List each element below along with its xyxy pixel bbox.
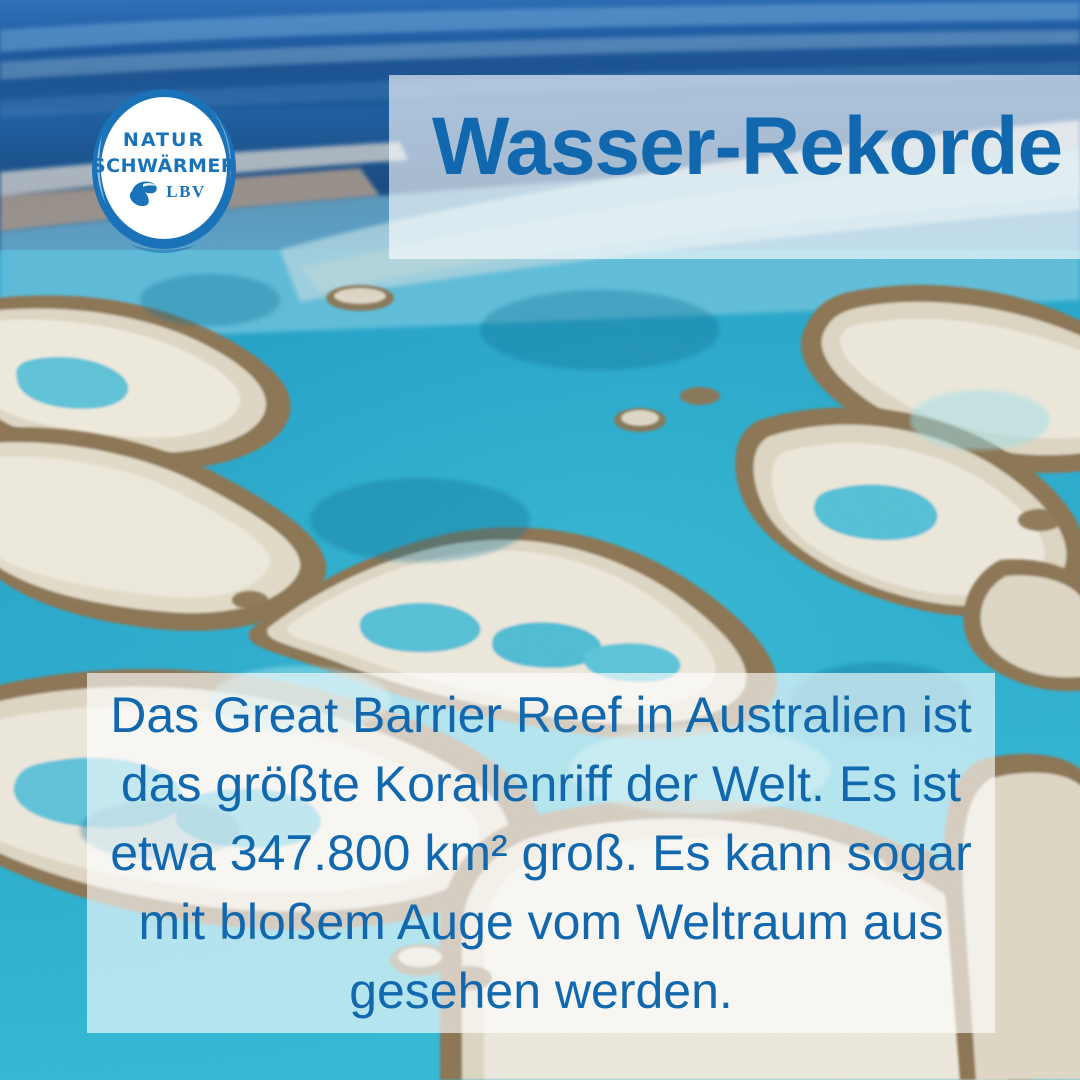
caption-line: mit bloßem Auge vom Weltraum aus (139, 888, 944, 957)
natur-schwaermer-lbv-logo[interactable]: NATUR SCHWÄRMER LBV (86, 84, 242, 254)
caption-line: etwa 347.800 km² groß. Es kann sogar (110, 819, 972, 888)
caption-line: gesehen werden. (349, 957, 733, 1026)
caption-line: Das Great Barrier Reef in Australien ist (110, 681, 971, 750)
logo-line1: NATUR (123, 129, 205, 151)
infographic-canvas: Wasser-Rekorde NATUR SCHWÄRMER LBV Das (0, 0, 1080, 1080)
page-title: Wasser-Rekorde (432, 106, 1080, 188)
caption-text: Das Great Barrier Reef in Australien ist… (87, 673, 995, 1033)
caption-line: das größte Korallenriff der Welt. Es ist (121, 750, 961, 819)
logo-org: LBV (166, 182, 205, 201)
logo-line2: SCHWÄRMER (92, 153, 236, 177)
